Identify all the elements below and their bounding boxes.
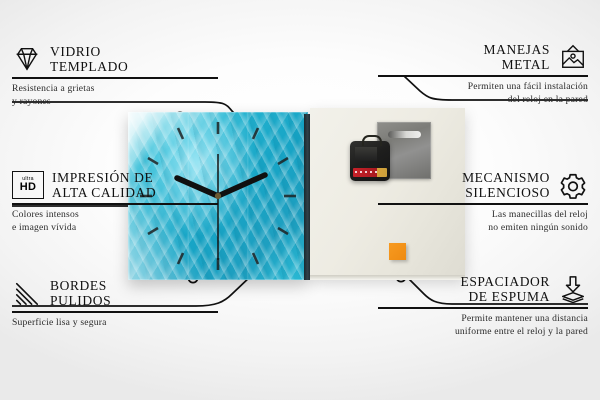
feature-subtitle: Colores intensos e imagen vívida	[12, 209, 222, 234]
feature-title: Manejas Metal	[484, 42, 550, 72]
foam-spacer	[389, 243, 406, 260]
feature-rule	[378, 75, 588, 77]
feature-header: Manejas Metal	[378, 42, 588, 72]
picture-frame-hook-icon	[558, 43, 588, 71]
feature-subtitle-line2: e imagen vívida	[12, 222, 76, 233]
mechanism-hanging-loop	[362, 135, 382, 146]
feature-vidrio-templado: Vidrio Templado Resistencia a grietas y …	[12, 44, 222, 108]
feature-title: Espaciador de Espuma	[460, 274, 550, 304]
feature-subtitle-line1: Colores intensos	[12, 209, 79, 220]
feature-bordes-pulidos: Bordes Pulidos Superficie lisa y segura	[12, 278, 222, 330]
feature-subtitle-line1: Resistencia a grietas	[12, 83, 95, 94]
feature-title: Vidrio Templado	[50, 44, 128, 74]
feature-subtitle-line1: Las manecillas del reloj	[492, 209, 588, 220]
feature-title-line1: Impresión de	[52, 170, 153, 185]
feature-title-line2: Silencioso	[462, 185, 550, 200]
feature-subtitle: Superficie lisa y segura	[12, 317, 222, 329]
feature-title-line2: de Espuma	[460, 289, 550, 304]
feature-manejas-metal: Manejas Metal Permiten una fácil instala…	[378, 42, 588, 106]
feature-subtitle-line2: uniforme entre el reloj y la pared	[455, 326, 588, 337]
gear-icon	[558, 171, 588, 199]
feature-header: ultra HD Impresión de Alta Calidad	[12, 170, 222, 200]
feature-title-line1: Manejas	[484, 42, 550, 57]
feature-espaciador-espuma: Espaciador de Espuma Permite mantener un…	[378, 274, 588, 338]
feature-rule	[12, 311, 218, 313]
ultra-hd-icon: ultra HD	[12, 171, 44, 199]
feature-title-line1: Mecanismo	[462, 170, 550, 185]
feature-subtitle-line1: Superficie lisa y segura	[12, 317, 107, 328]
feature-rule	[12, 77, 218, 79]
feature-subtitle: Resistencia a grietas y rayones	[12, 83, 222, 108]
feature-subtitle: Permiten una fácil instalación del reloj…	[378, 81, 588, 106]
ultra-hd-icon-main: HD	[20, 182, 37, 193]
feature-header: Vidrio Templado	[12, 44, 222, 74]
feature-title-line2: Alta Calidad	[52, 185, 156, 200]
feature-title: Bordes Pulidos	[50, 278, 111, 308]
minute-hand	[218, 175, 265, 196]
feature-rule	[378, 203, 588, 205]
feature-subtitle: Las manecillas del reloj no emiten ningú…	[378, 209, 588, 234]
feature-subtitle-line1: Permite mantener una distancia	[461, 313, 588, 324]
feature-title-line2: Pulidos	[50, 293, 111, 308]
feature-impresion-alta-calidad: ultra HD Impresión de Alta Calidad Color…	[12, 170, 222, 234]
feature-subtitle-line2: y rayones	[12, 96, 51, 107]
feature-subtitle-line1: Permiten una fácil instalación	[468, 81, 588, 92]
feature-subtitle: Permite mantener una distancia uniforme …	[378, 313, 588, 338]
diamond-icon	[12, 45, 42, 73]
feature-header: Bordes Pulidos	[12, 278, 222, 308]
feature-mecanismo-silencioso: Mecanismo Silencioso Las manecillas del …	[378, 170, 588, 234]
mechanism-housing-detail	[355, 147, 377, 161]
feature-title-line2: Templado	[50, 59, 128, 74]
arrow-down-layers-icon	[558, 275, 588, 303]
feature-title-line1: Vidrio	[50, 44, 101, 59]
infographic-canvas: Vidrio Templado Resistencia a grietas y …	[0, 0, 600, 400]
feature-title-line1: Bordes	[50, 278, 107, 293]
feature-subtitle-line2: no emiten ningún sonido	[488, 222, 588, 233]
feature-title: Impresión de Alta Calidad	[52, 170, 156, 200]
feature-rule	[378, 307, 588, 309]
feature-title-line2: Metal	[484, 57, 550, 72]
feature-header: Mecanismo Silencioso	[378, 170, 588, 200]
hanger-slot	[388, 131, 421, 138]
feature-rule	[12, 203, 218, 205]
polished-edge-icon	[12, 279, 42, 307]
feature-title: Mecanismo Silencioso	[462, 170, 550, 200]
feature-title-line1: Espaciador	[460, 274, 550, 289]
feature-subtitle-line2: del reloj en la pared	[508, 94, 588, 105]
feature-header: Espaciador de Espuma	[378, 274, 588, 304]
